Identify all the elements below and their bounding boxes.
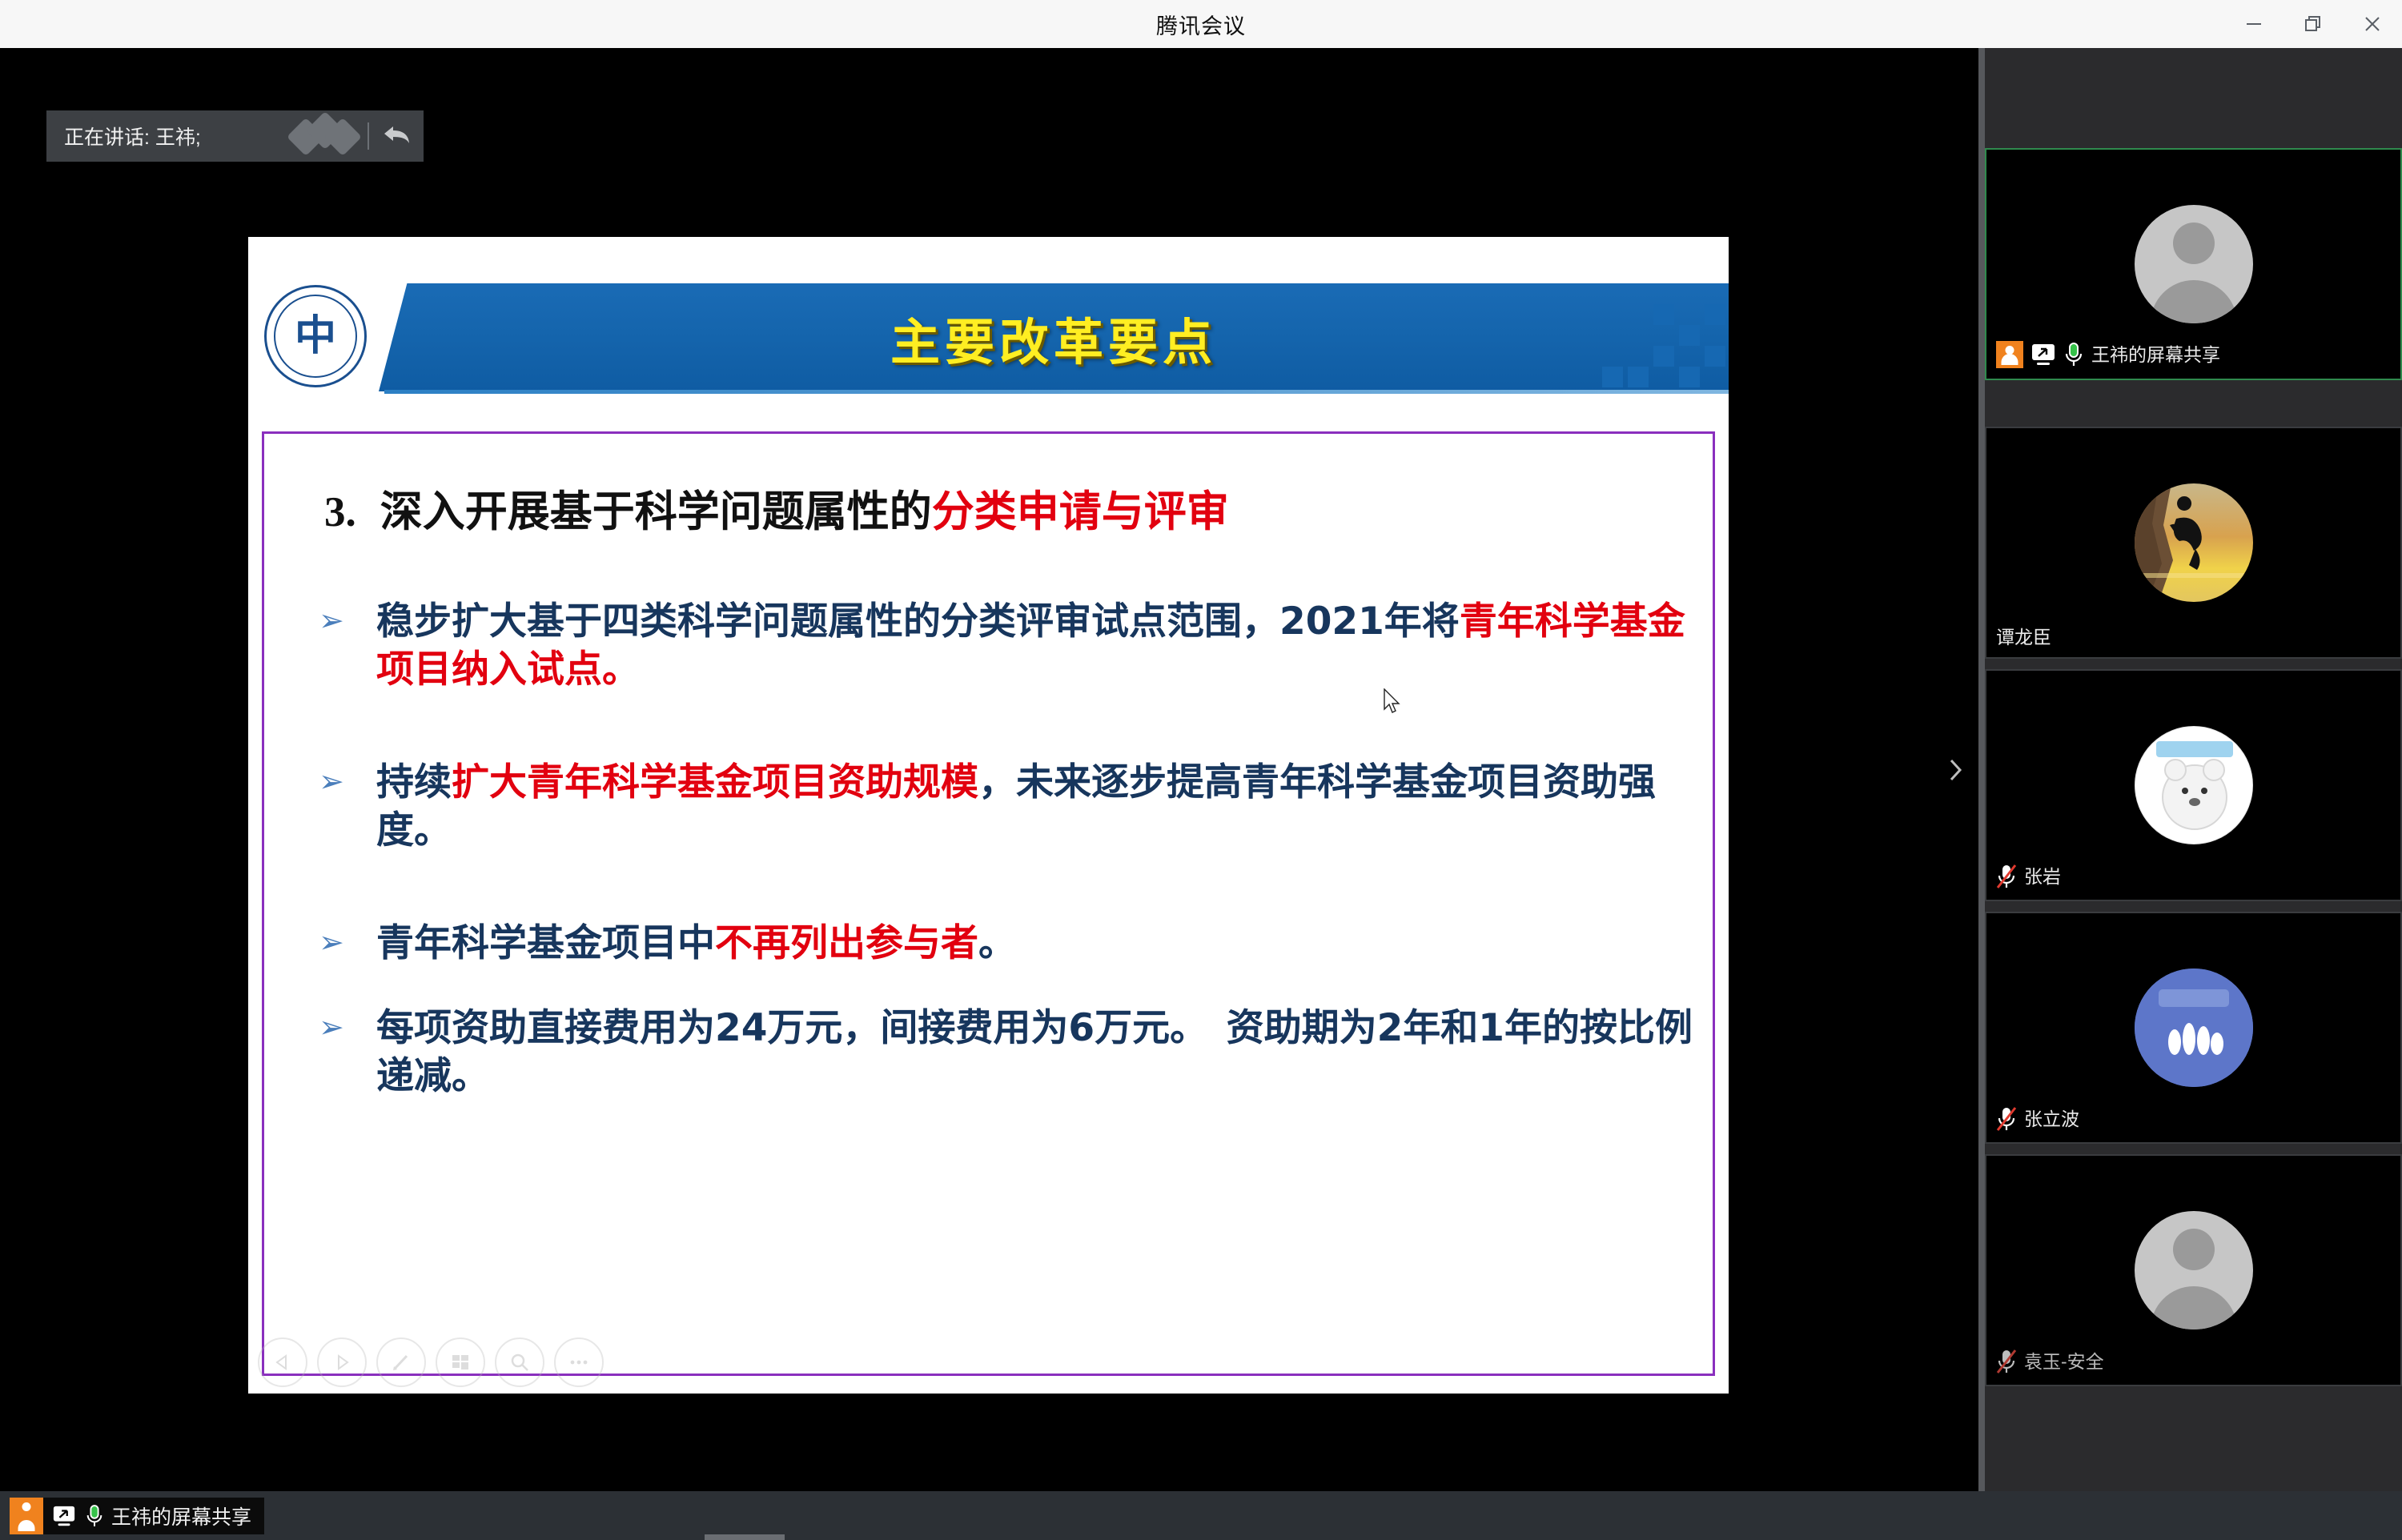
restore-icon	[2303, 14, 2324, 34]
restore-button[interactable]	[2284, 0, 2343, 48]
ellipsis-icon	[568, 1358, 590, 1367]
taskbar-screen-share-item[interactable]: 王祎的屏幕共享	[10, 1498, 264, 1534]
slide-heading: 3.深入开展基于科学问题属性的分类申请与评审	[324, 478, 1685, 539]
climber-avatar-art	[2135, 483, 2253, 602]
participant-name: 谭龙臣	[1996, 628, 2051, 647]
participant-name: 张立波	[2024, 1110, 2079, 1129]
slide-heading-black: 深入开展基于科学问题属性的	[380, 487, 932, 536]
previous-slide-button[interactable]	[258, 1337, 307, 1387]
mic-off-icon	[1996, 864, 2017, 889]
bullet-marker: ➢	[319, 923, 354, 962]
participant-tile[interactable]: 张岩	[1985, 669, 2402, 901]
slide-banner-title: 主要改革要点	[379, 283, 1729, 391]
person-icon	[10, 1498, 43, 1534]
bullet-run: 。	[978, 921, 1016, 965]
mic-off-icon	[1996, 1106, 2017, 1132]
toolbar-separator	[368, 122, 369, 150]
participant-label: 张立波	[1990, 1099, 2091, 1139]
reply-arrow-icon	[382, 122, 412, 147]
more-options-button[interactable]	[554, 1337, 604, 1387]
magnifier-icon	[508, 1351, 531, 1374]
slide-bullet: ➢ 持续扩大青年科学基金项目资助规模，未来逐步提高青年科学基金项目资助强度。	[319, 759, 1696, 855]
close-icon	[2362, 14, 2383, 34]
avatar	[2135, 1211, 2253, 1329]
participant-label: 张岩	[1990, 856, 2072, 896]
panel-collapse-handle[interactable]	[1937, 722, 1974, 818]
chevron-right-icon	[1943, 752, 1967, 788]
slide-heading-red: 分类申请与评审	[932, 487, 1229, 536]
mic-on-icon	[85, 1504, 104, 1528]
bullet-marker: ➢	[319, 1008, 354, 1047]
next-slide-icon	[331, 1352, 352, 1373]
bullet-run: 稳步扩大基于四类科学问题属性的分类评审试点范围，2021年将	[376, 600, 1460, 644]
participant-label: 谭龙臣	[1990, 621, 2063, 654]
participant-tile[interactable]: 袁玉-安全	[1985, 1154, 2402, 1386]
minimize-button[interactable]	[2224, 0, 2284, 48]
mic-on-icon	[2063, 342, 2084, 367]
participant-tile[interactable]: 王祎的屏幕共享	[1985, 148, 2402, 380]
pen-tool-button[interactable]	[376, 1337, 426, 1387]
back-arrow-icon[interactable]	[382, 122, 412, 151]
minimize-icon	[2243, 14, 2264, 34]
cursor-icon	[1383, 688, 1404, 717]
bullet-marker: ➢	[319, 762, 354, 801]
participant-tile[interactable]: 谭龙臣	[1985, 427, 2402, 659]
slide-heading-number: 3.	[324, 489, 356, 535]
active-speaker-label: 正在讲话: 王祎;	[64, 122, 291, 150]
university-logo-glyph: 中	[295, 315, 336, 357]
bullet-text: 持续扩大青年科学基金项目资助规模，未来逐步提高青年科学基金项目资助强度。	[376, 759, 1696, 855]
slide-bullet: ➢ 每项资助直接费用为24万元，间接费用为6万元。 资助期为2年和1年的按比例递…	[319, 1005, 1696, 1101]
bullet-text: 青年科学基金项目中不再列出参与者。	[376, 920, 1696, 968]
avatar	[2135, 969, 2253, 1087]
avatar	[2135, 726, 2253, 844]
screen-share-icon	[2030, 342, 2056, 367]
window-title: 腾讯会议	[0, 9, 2402, 40]
screen-share-icon	[50, 1504, 78, 1528]
mouse-cursor	[1383, 688, 1404, 717]
bullet-run: 持续	[376, 760, 452, 804]
bullet-text: 每项资助直接费用为24万元，间接费用为6万元。 资助期为2年和1年的按比例递减。	[376, 1005, 1696, 1101]
pen-icon	[390, 1351, 412, 1374]
window-controls	[2224, 0, 2402, 48]
title-bar: 腾讯会议	[0, 0, 2402, 48]
next-slide-button[interactable]	[317, 1337, 367, 1387]
panel-divider	[1978, 48, 1985, 1491]
slide-content-box: 3.深入开展基于科学问题属性的分类申请与评审 ➢ 稳步扩大基于四类科学问题属性的…	[262, 431, 1715, 1376]
bullet-run: 不再列出参与者	[715, 921, 978, 965]
mic-off-icon	[1996, 1349, 2017, 1374]
slide-bullet: ➢ 青年科学基金项目中不再列出参与者。	[319, 920, 1696, 968]
slide-bullet: ➢ 稳步扩大基于四类科学问题属性的分类评审试点范围，2021年将青年科学基金项目…	[319, 598, 1696, 694]
participant-tile[interactable]: 张立波	[1985, 912, 2402, 1144]
slide-banner: 主要改革要点 中	[248, 283, 1729, 397]
taskbar-scrollbar[interactable]	[705, 1534, 785, 1540]
bullet-run: 扩大青年科学基金项目资助规模	[452, 760, 978, 804]
bullet-run: 青年科学基金项目中	[376, 921, 715, 965]
tencent-meeting-logo-icon	[291, 120, 358, 152]
previous-slide-icon	[272, 1352, 293, 1373]
participant-name: 袁玉-安全	[2024, 1353, 2104, 1371]
university-logo: 中	[264, 285, 367, 387]
slide-grid-button[interactable]	[436, 1337, 485, 1387]
presenter-toolbar	[258, 1337, 604, 1387]
avatar	[2135, 205, 2253, 323]
avatar	[2135, 483, 2253, 602]
zoom-tool-button[interactable]	[495, 1337, 544, 1387]
close-button[interactable]	[2343, 0, 2402, 48]
shared-screen-stage[interactable]: 主要改革要点 中 3.深入开展基于科学问题属性的分类申请与评审 ➢ 稳步扩大基于…	[0, 48, 1978, 1491]
bullet-run: 每项资助直接费用为24万元，间接费用为6万元。 资助期为2年和1年的按比例递减。	[376, 1006, 1693, 1098]
bear-avatar-art	[2135, 727, 2253, 844]
taskbar: 王祎的屏幕共享	[0, 1491, 2402, 1540]
bullet-marker: ➢	[319, 601, 354, 640]
participant-label: 袁玉-安全	[1990, 1341, 2115, 1382]
active-speaker-bar: 正在讲话: 王祎;	[46, 110, 424, 162]
tencent-meeting-window: 腾讯会议	[0, 0, 2402, 1540]
participant-name: 王祎的屏幕共享	[2091, 346, 2220, 364]
participant-label: 王祎的屏幕共享	[1990, 334, 2231, 375]
participant-name: 张岩	[2024, 868, 2061, 886]
blue-avatar-art	[2135, 969, 2253, 1087]
presentation-slide: 主要改革要点 中 3.深入开展基于科学问题属性的分类申请与评审 ➢ 稳步扩大基于…	[248, 237, 1729, 1394]
person-icon	[1996, 341, 2023, 368]
taskbar-item-label: 王祎的屏幕共享	[111, 1502, 251, 1530]
slide-grid-icon	[449, 1351, 472, 1374]
bullet-text: 稳步扩大基于四类科学问题属性的分类评审试点范围，2021年将青年科学基金项目纳入…	[376, 598, 1696, 694]
